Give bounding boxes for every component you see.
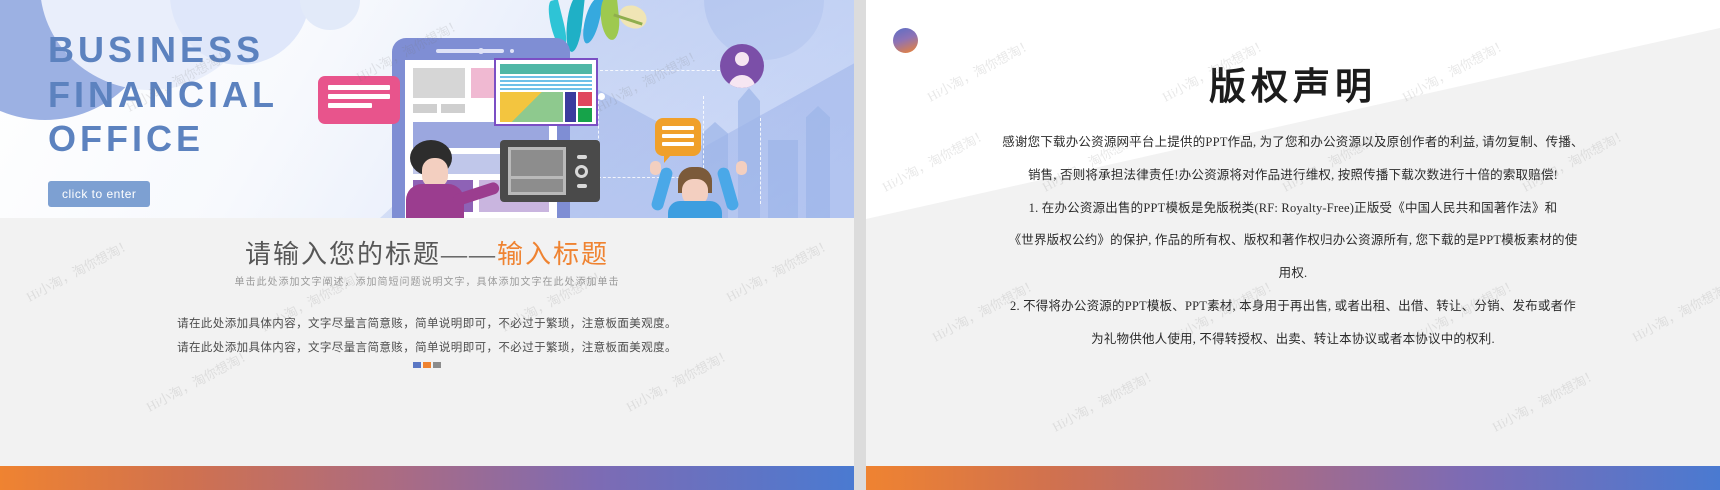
screen-block bbox=[511, 150, 563, 176]
page-title: 版权声明 bbox=[866, 56, 1720, 110]
copyright-paragraph: 1. 在办公资源出售的PPT模板是免版税类(RF: Royalty-Free)正… bbox=[900, 192, 1686, 225]
screen-block bbox=[413, 68, 465, 98]
swatch-red bbox=[578, 92, 592, 106]
screen-block bbox=[413, 104, 437, 113]
avatar-head bbox=[735, 52, 749, 66]
control-pill bbox=[577, 184, 587, 188]
screen-block bbox=[511, 179, 563, 192]
tablet-sensor bbox=[510, 49, 514, 53]
bottom-gradient-rail bbox=[0, 466, 854, 490]
chat-bubble-icon bbox=[655, 118, 701, 156]
screen-block bbox=[441, 104, 465, 113]
card-header-bar bbox=[500, 64, 592, 74]
click-to-enter-button[interactable]: click to enter bbox=[48, 181, 150, 207]
tablet-speaker bbox=[436, 49, 504, 53]
copyright-paragraph: 用权. bbox=[900, 257, 1686, 290]
bubble-line bbox=[662, 126, 694, 130]
card-line bbox=[328, 85, 390, 90]
person-illustration-right bbox=[640, 155, 760, 218]
copyright-body: 感谢您下载办公资源网平台上提供的PPT作品, 为了您和办公资源以及原创作者的利益… bbox=[900, 126, 1686, 355]
copyright-paragraph: 《世界版权公约》的保护, 作品的所有权、版权和著作权归办公资源所有, 您下载的是… bbox=[900, 224, 1686, 257]
section-heading: 请输入您的标题——输入标题 bbox=[0, 234, 854, 271]
card-line bbox=[500, 84, 592, 86]
leaf bbox=[599, 0, 622, 41]
decor-mini-bars bbox=[413, 362, 441, 368]
copyright-slide: 版权声明 感谢您下载办公资源网平台上提供的PPT作品, 为了您和办公资源以及原创… bbox=[866, 0, 1720, 490]
bubble-line bbox=[662, 134, 694, 138]
card-line bbox=[328, 103, 372, 108]
user-avatar-icon bbox=[720, 44, 764, 88]
body-line-1: 请在此处添加具体内容，文字尽量言简意赅，简单说明即可，不必过于繁琐，注意板面美观… bbox=[0, 313, 854, 337]
mini-bar-blue bbox=[413, 362, 421, 368]
card-line bbox=[500, 88, 592, 90]
chart-nav bbox=[565, 92, 576, 122]
section-subtitle: 单击此处添加文字阐述，添加简短问题说明文字，具体添加文字在此处添加单击 bbox=[0, 273, 854, 288]
card-line bbox=[328, 94, 390, 99]
drawing-tablet-screen bbox=[508, 147, 566, 195]
page-title: BUSINESS FINANCIAL OFFICE bbox=[48, 28, 278, 162]
copyright-paragraph: 销售, 否则将承担法律责任!办公资源将对作品进行维权, 按照传播下载次数进行十倍… bbox=[900, 159, 1686, 192]
title-line-3: OFFICE bbox=[48, 117, 278, 162]
drawing-tablet-device bbox=[500, 140, 600, 202]
chart-area bbox=[500, 92, 563, 122]
section-body-text: 请在此处添加具体内容，文字尽量言简意赅，简单说明即可，不必过于繁琐，注意板面美观… bbox=[0, 313, 854, 360]
cover-text-panel: 请输入您的标题——输入标题 单击此处添加文字阐述，添加简短问题说明文字，具体添加… bbox=[0, 218, 854, 466]
avatar-body bbox=[729, 75, 756, 88]
person-hand bbox=[736, 161, 747, 175]
slide-deck: BUSINESS FINANCIAL OFFICE click to enter… bbox=[0, 0, 1720, 490]
mini-bar-orange bbox=[423, 362, 431, 368]
copyright-paragraph: 感谢您下载办公资源网平台上提供的PPT作品, 为了您和办公资源以及原创作者的利益… bbox=[900, 126, 1686, 159]
bubble-line bbox=[662, 142, 694, 146]
cover-slide: BUSINESS FINANCIAL OFFICE click to enter… bbox=[0, 0, 854, 490]
title-line-1: BUSINESS bbox=[48, 28, 278, 73]
control-pill bbox=[577, 155, 587, 159]
person-hand bbox=[650, 161, 661, 175]
card-line bbox=[500, 80, 592, 82]
section-heading-main: 请输入您的标题—— bbox=[245, 240, 497, 269]
card-chart-row bbox=[500, 92, 592, 122]
card-line bbox=[500, 76, 592, 78]
copyright-paragraph: 2. 不得将办公资源的PPT模板、PPT素材, 本身用于再出售, 或者出租、出借… bbox=[900, 290, 1686, 323]
control-dial bbox=[575, 165, 588, 178]
message-card-pink bbox=[318, 76, 400, 124]
copyright-paragraph: 为礼物供他人使用, 不得转授权、出卖、转让本协议或者本协议中的权利. bbox=[900, 323, 1686, 356]
drawing-tablet-controls bbox=[571, 147, 592, 195]
decor-gradient-dot bbox=[893, 28, 918, 53]
cover-hero-area: BUSINESS FINANCIAL OFFICE click to enter bbox=[0, 0, 854, 218]
analytics-card bbox=[494, 58, 598, 126]
title-line-2: FINANCIAL bbox=[48, 73, 278, 118]
mini-bar-grey bbox=[433, 362, 441, 368]
person-illustration-left bbox=[392, 140, 502, 218]
person-arm bbox=[451, 181, 500, 207]
body-line-2: 请在此处添加具体内容，文字尽量言简意赅，简单说明即可，不必过于繁琐，注意板面美观… bbox=[0, 337, 854, 361]
swatch-green bbox=[578, 108, 592, 122]
person-body bbox=[668, 201, 722, 218]
bottom-gradient-rail bbox=[866, 466, 1720, 490]
section-heading-accent: 输入标题 bbox=[497, 240, 609, 269]
chart-swatches bbox=[578, 92, 592, 122]
